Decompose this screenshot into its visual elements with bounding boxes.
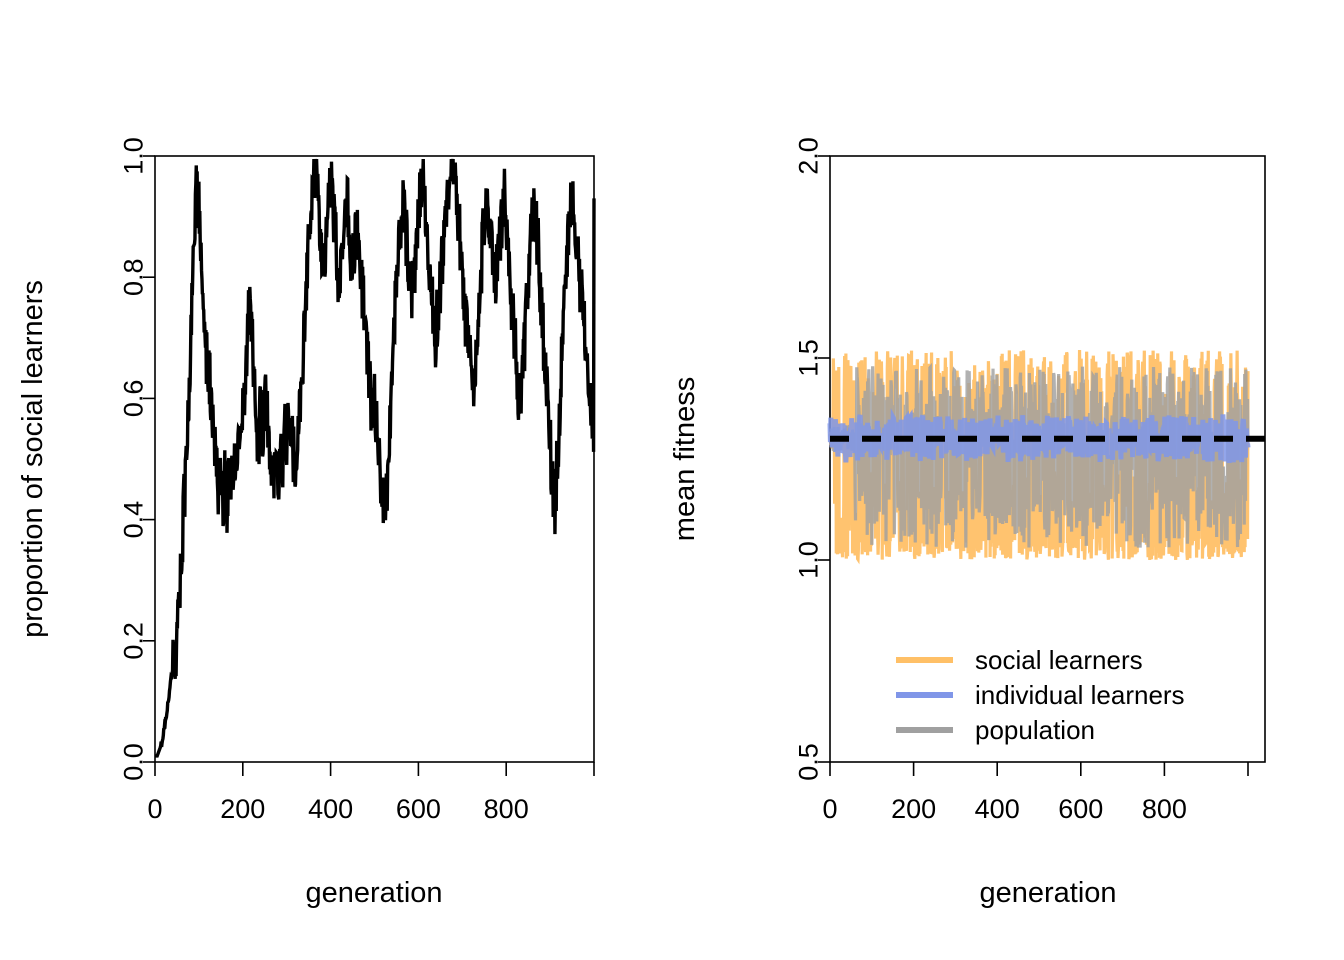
x-tick-label: 800: [484, 794, 529, 824]
y-tick-label: 1.5: [793, 339, 823, 377]
legend-label-1: individual learners: [975, 680, 1185, 710]
left-panel-svg: 0.00.20.40.60.81.0 0200400600800 generat…: [0, 0, 672, 960]
legend: social learnersindividual learnerspopula…: [896, 645, 1185, 745]
right-y-axis-labels: 0.51.01.52.0: [793, 137, 823, 781]
x-tick-label: 600: [1058, 794, 1103, 824]
x-tick-label: 400: [975, 794, 1020, 824]
x-tick-label: 0: [822, 794, 837, 824]
left-x-axis-labels: 0200400600800: [147, 794, 528, 824]
panel-mean-fitness: 0.51.01.52.0 0200400600800 social learne…: [672, 0, 1344, 960]
left-y-axis-ticks: [143, 156, 155, 762]
proportion-social-learners-line: [155, 159, 594, 756]
x-tick-label: 0: [147, 794, 162, 824]
y-tick-label: 0.6: [118, 380, 148, 418]
left-y-axis-labels: 0.00.20.40.60.81.0: [118, 137, 148, 781]
right-y-axis-ticks: [818, 156, 830, 762]
left-x-axis-ticks: [155, 762, 594, 776]
x-tick-label: 800: [1142, 794, 1187, 824]
y-tick-label: 0.2: [118, 622, 148, 660]
x-tick-label: 200: [220, 794, 265, 824]
x-tick-label: 600: [396, 794, 441, 824]
right-x-axis-title: generation: [979, 877, 1116, 909]
legend-label-0: social learners: [975, 645, 1143, 675]
x-tick-label: 200: [891, 794, 936, 824]
right-x-axis-labels: 0200400600800: [822, 794, 1186, 824]
figure-canvas: 0.00.20.40.60.81.0 0200400600800 generat…: [0, 0, 1344, 960]
x-tick-label: 400: [308, 794, 353, 824]
y-tick-label: 2.0: [793, 137, 823, 175]
left-y-axis-title: proportion of social learners: [17, 280, 49, 638]
y-tick-label: 1.0: [793, 541, 823, 579]
y-tick-label: 0.0: [118, 743, 148, 781]
right-y-axis-title: mean fitness: [672, 377, 701, 541]
legend-label-2: population: [975, 715, 1095, 745]
y-tick-label: 1.0: [118, 137, 148, 175]
right-panel-svg: 0.51.01.52.0 0200400600800 social learne…: [672, 0, 1344, 960]
left-x-axis-title: generation: [305, 877, 442, 909]
y-tick-label: 0.8: [118, 258, 148, 296]
panel-proportion-social-learners: 0.00.20.40.60.81.0 0200400600800 generat…: [0, 0, 672, 960]
right-x-axis-ticks: [830, 762, 1248, 776]
y-tick-label: 0.4: [118, 501, 148, 539]
y-tick-label: 0.5: [793, 743, 823, 781]
